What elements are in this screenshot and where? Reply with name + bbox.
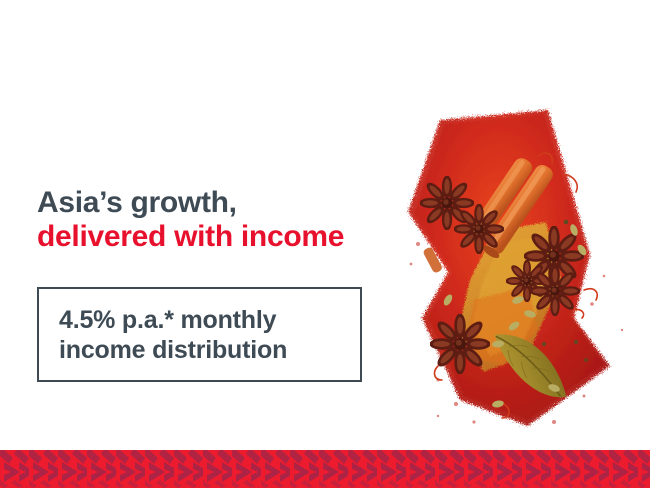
callout-line-1: 4.5% p.a.* monthly — [59, 305, 349, 335]
headline-line-1: Asia’s growth, — [37, 186, 437, 220]
chevron-pattern-band — [0, 450, 650, 488]
promo-banner: Asia’s growth, delivered with income 4.5… — [0, 0, 650, 488]
callout-text: 4.5% p.a.* monthly income distribution — [59, 305, 349, 365]
headline-line-2: delivered with income — [37, 220, 437, 254]
headline: Asia’s growth, delivered with income — [37, 186, 437, 253]
callout-line-2: income distribution — [59, 335, 349, 365]
spice-arrow-photo — [378, 104, 640, 434]
income-callout-box: 4.5% p.a.* monthly income distribution — [37, 287, 362, 382]
